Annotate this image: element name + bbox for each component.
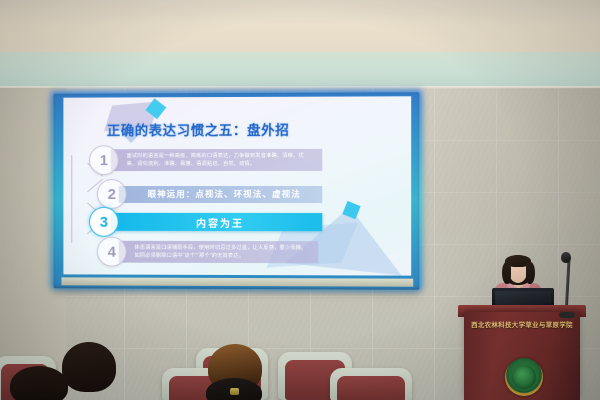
slide-item-3: 3 内容为王 bbox=[89, 207, 322, 237]
item-text-bar: 体态语言是口语辅助手段，使用时切忌过多过滥，让人反感，要少而精。如同必须剔除口语… bbox=[119, 241, 319, 264]
podium-sign-text: 西北农林科技大学草业与草原学院 bbox=[466, 320, 578, 329]
ceiling-beam bbox=[0, 52, 600, 88]
university-emblem bbox=[505, 358, 543, 396]
hair-clip bbox=[230, 388, 239, 395]
slide-item-2: 2 眼神运用：点视法、环视法、虚视法 bbox=[97, 179, 322, 209]
item-number-badge: 1 bbox=[89, 145, 119, 175]
item-number-badge: 4 bbox=[97, 237, 127, 267]
slide-title: 正确的表达习惯之五：盘外招 bbox=[107, 119, 290, 139]
slide-item-4: 4 体态语言是口语辅助手段，使用时切忌过多过滥，让人反感，要少而精。如同必须剔除… bbox=[97, 237, 318, 268]
slide-item-1: 1 面试时的语言是一种高级、简练的口语表达，力争做到发音准确、清晰、优美、词句流… bbox=[89, 145, 322, 175]
speaker-hair-side-right bbox=[526, 262, 535, 284]
item-text-bar-highlighted: 内容为王 bbox=[111, 213, 323, 231]
projection-screen: 正确的表达习惯之五：盘外招 1 面试时的语言是一种高级、简练的口语表达，力争做到… bbox=[54, 92, 420, 290]
lecture-hall-photo: 正确的表达习惯之五：盘外招 1 面试时的语言是一种高级、简练的口语表达，力争做到… bbox=[0, 0, 600, 400]
audience-head bbox=[62, 342, 116, 392]
speaker-hair-side-left bbox=[502, 262, 511, 284]
item-number-badge: 2 bbox=[97, 179, 127, 209]
auditorium-seat bbox=[330, 368, 412, 400]
ceiling bbox=[0, 0, 600, 56]
microphone-base bbox=[559, 312, 575, 318]
item-number-badge-highlighted: 3 bbox=[89, 207, 119, 237]
item-text-bar: 眼神运用：点视法、环视法、虚视法 bbox=[119, 185, 323, 202]
screen-bottom-edge bbox=[61, 277, 413, 286]
item-text-bar: 面试时的语言是一种高级、简练的口语表达，力争做到发音准确、清晰、优美、词句流利、… bbox=[111, 149, 323, 171]
audience-head bbox=[10, 366, 68, 400]
connector-spine bbox=[71, 155, 72, 242]
microphone-head bbox=[561, 252, 571, 263]
slide-canvas: 正确的表达习惯之五：盘外招 1 面试时的语言是一种高级、简练的口语表达，力争做到… bbox=[63, 96, 411, 275]
